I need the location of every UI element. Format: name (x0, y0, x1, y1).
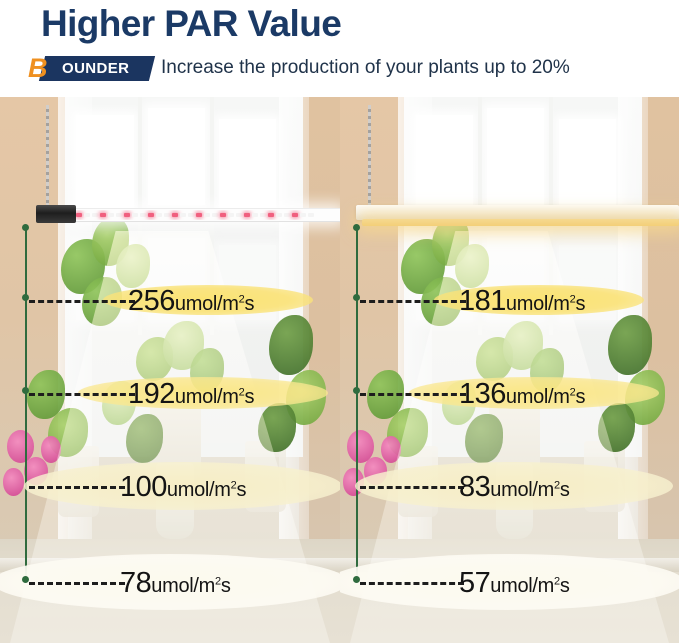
par-unit-tail: s (237, 480, 247, 500)
par-unit: umol/m (175, 294, 239, 314)
par-unit-tail: s (245, 294, 255, 314)
par-unit: umol/m (506, 294, 570, 314)
fixture-housing (356, 205, 679, 220)
measurement-row: 57umol/m2s (340, 565, 679, 599)
par-unit-tail: s (576, 387, 586, 407)
brand-slogan: Increase the production of your plants u… (161, 56, 570, 80)
scale-marker-2 (22, 294, 29, 301)
scale-marker-1 (353, 224, 360, 231)
scale-marker-3 (353, 387, 360, 394)
logo-letter-b: B (28, 55, 62, 82)
led-bar (74, 208, 340, 222)
fixture-led-glow (362, 219, 679, 226)
par-value: 181 (459, 287, 506, 316)
par-unit: umol/m (490, 480, 554, 500)
par-value: 78 (120, 569, 151, 598)
scale-marker-2 (353, 294, 360, 301)
par-value: 256 (128, 287, 175, 316)
par-value: 83 (459, 473, 490, 502)
scale-marker-4 (22, 576, 29, 583)
measurement-row: 100umol/m2s (0, 469, 340, 503)
brand-row: B OUNDER Increase the production of your… (28, 54, 570, 82)
header: Higher PAR Value B OUNDER Increase the p… (0, 0, 679, 97)
hanging-chain-right (368, 105, 371, 212)
par-unit-tail: s (560, 576, 570, 596)
shop-light-fixture-right (350, 205, 679, 223)
page-title: Higher PAR Value (41, 2, 341, 46)
measurement-row: 136umol/m2s (340, 376, 679, 410)
hanging-chain-left (46, 105, 49, 212)
scale-marker-1 (22, 224, 29, 231)
par-unit-tail: s (245, 387, 255, 407)
par-unit: umol/m (490, 576, 554, 596)
par-unit: umol/m (167, 480, 231, 500)
par-unit: umol/m (506, 387, 570, 407)
par-unit-tail: s (560, 480, 570, 500)
par-value: 192 (128, 380, 175, 409)
par-unit-tail: s (576, 294, 586, 314)
par-unit: umol/m (175, 387, 239, 407)
par-unit-tail: s (221, 576, 231, 596)
grow-light-fixture-left (30, 205, 340, 223)
measurement-row: 78umol/m2s (0, 565, 340, 599)
measurement-row: 83umol/m2s (340, 469, 679, 503)
scale-marker-4 (353, 576, 360, 583)
measurement-row: 192umol/m2s (0, 376, 340, 410)
infographic-root: Higher PAR Value B OUNDER Increase the p… (0, 0, 679, 643)
par-value: 57 (459, 569, 490, 598)
par-value: 100 (120, 473, 167, 502)
panel-left-grow-light: 256umol/m2s 192umol/m2s 100umol/m2s (0, 97, 340, 643)
measurement-row: 181umol/m2s (340, 283, 679, 317)
fixture-end-cap (36, 205, 76, 223)
logo-wordmark: OUNDER (62, 59, 129, 78)
bounder-logo: B OUNDER (28, 56, 152, 81)
scale-marker-3 (22, 387, 29, 394)
comparison-scene: 256umol/m2s 192umol/m2s 100umol/m2s (0, 97, 679, 643)
par-unit: umol/m (151, 576, 215, 596)
par-value: 136 (459, 380, 506, 409)
led-array (76, 210, 338, 220)
measurement-row: 256umol/m2s (0, 283, 340, 317)
panel-right-standard-light: 181umol/m2s 136umol/m2s 83umol/m2s (340, 97, 679, 643)
